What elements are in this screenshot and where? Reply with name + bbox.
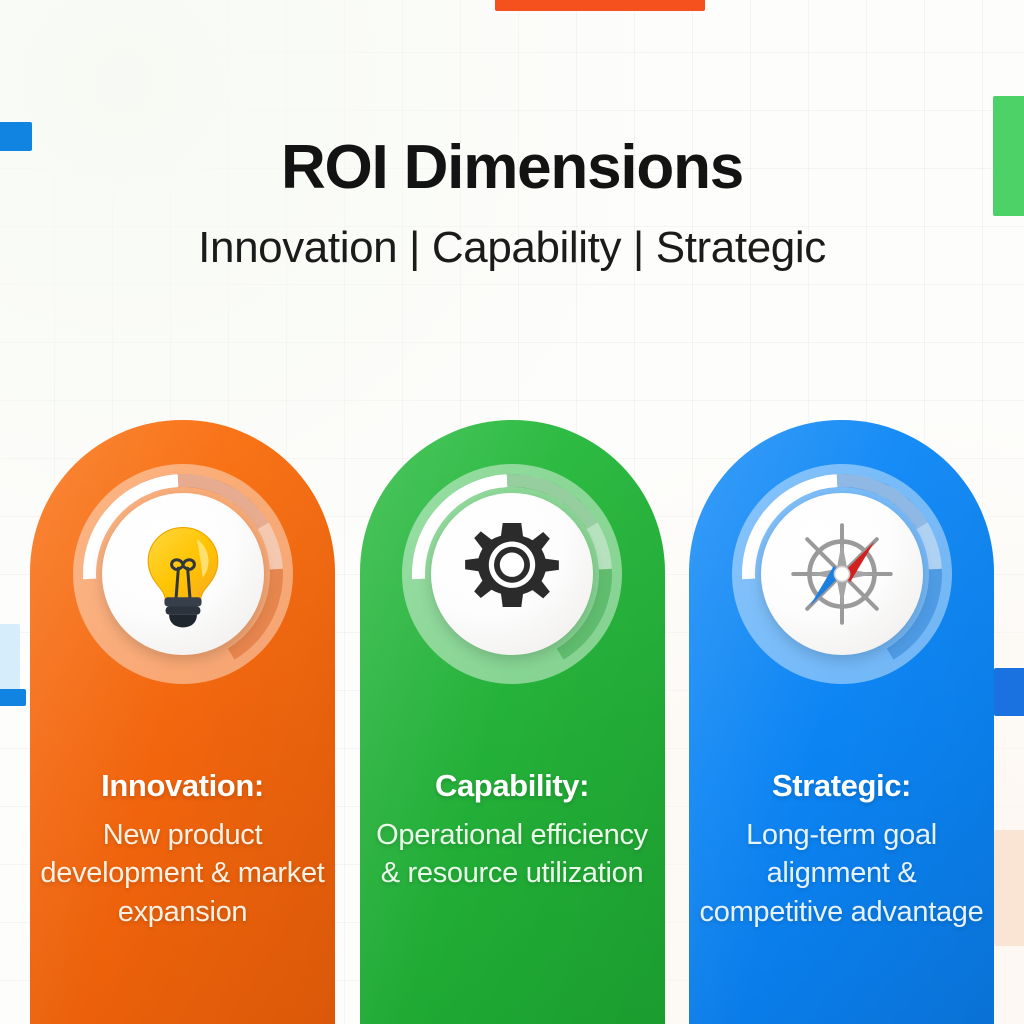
compass-icon xyxy=(784,516,900,632)
card-heading: Innovation: xyxy=(40,768,325,804)
page-subtitle: Innovation | Capability | Strategic xyxy=(0,225,1024,271)
card-heading: Capability: xyxy=(370,768,655,804)
card-innovation[interactable]: Innovation: New product development & ma… xyxy=(30,420,335,1024)
gear-icon xyxy=(454,516,570,632)
card-text-strategic: Strategic: Long-term goal alignment & co… xyxy=(689,768,994,931)
badge-disc xyxy=(102,493,264,655)
card-heading: Strategic: xyxy=(699,768,984,804)
card-capability[interactable]: Capability: Operational efficiency & res… xyxy=(360,420,665,1024)
icon-badge-capability xyxy=(402,464,622,684)
badge-disc xyxy=(761,493,923,655)
cards-container: Innovation: New product development & ma… xyxy=(0,420,1024,1024)
decoration-bar-top-orange xyxy=(495,0,705,11)
card-text-innovation: Innovation: New product development & ma… xyxy=(30,768,335,931)
badge-disc xyxy=(431,493,593,655)
header: ROI Dimensions Innovation | Capability |… xyxy=(0,136,1024,271)
icon-badge-strategic xyxy=(732,464,952,684)
page-title: ROI Dimensions xyxy=(0,136,1024,199)
card-description: New product development & market expansi… xyxy=(40,816,325,931)
card-text-capability: Capability: Operational efficiency & res… xyxy=(360,768,665,893)
icon-badge-innovation xyxy=(73,464,293,684)
card-description: Operational efficiency & resource utiliz… xyxy=(370,816,655,893)
card-strategic[interactable]: Strategic: Long-term goal alignment & co… xyxy=(689,420,994,1024)
card-description: Long-term goal alignment & competitive a… xyxy=(699,816,984,931)
lightbulb-icon xyxy=(125,516,241,632)
